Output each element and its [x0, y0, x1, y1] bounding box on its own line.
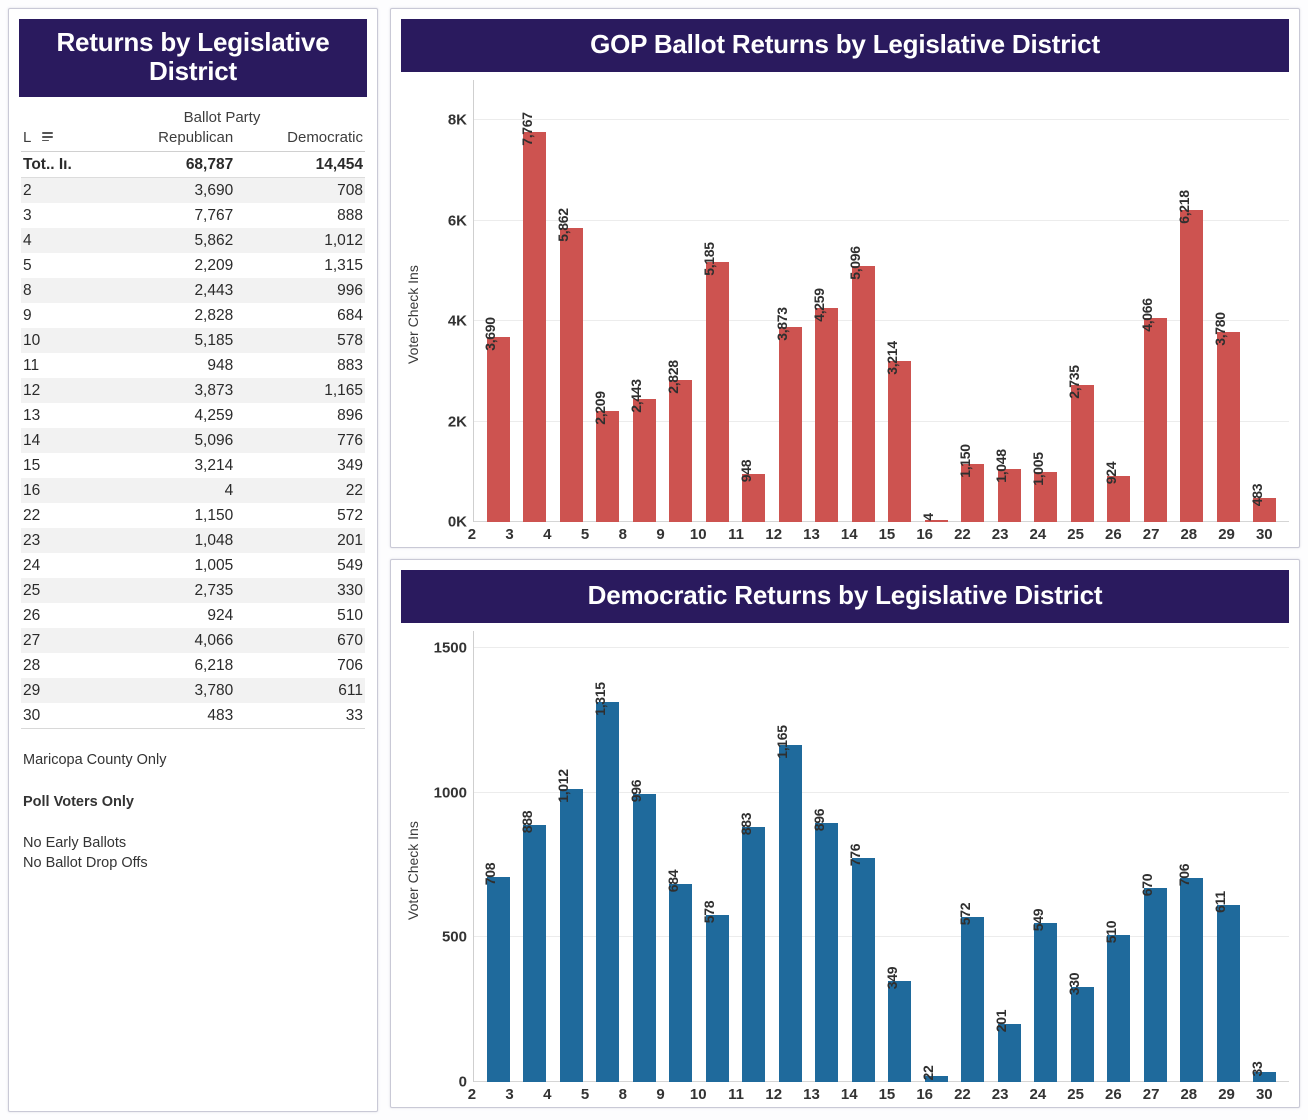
bar-slot[interactable]: 2,828: [663, 80, 700, 522]
y-tick-label: 0: [459, 1074, 467, 1091]
bar[interactable]: 1,150: [961, 464, 984, 522]
bar-value-label: 4,259: [811, 288, 827, 322]
x-tick-label: 14: [830, 526, 868, 543]
dem-y-axis-title: Voter Check Ins: [401, 631, 427, 1082]
x-tick-label: 30: [1245, 526, 1283, 543]
note-county: Maricopa County Only: [23, 751, 363, 771]
bar-slot[interactable]: 6,218: [1174, 80, 1211, 522]
bar-value-label: 3,214: [884, 341, 900, 375]
x-tick-label: 12: [755, 1086, 793, 1103]
cell-district: 15: [21, 453, 107, 478]
bar-value-label: 1,165: [774, 725, 790, 759]
x-tick-label: 29: [1208, 1086, 1246, 1103]
cell-democratic: 33: [235, 703, 365, 729]
table-row[interactable]: 82,443996: [21, 278, 365, 303]
y-tick-label: 500: [442, 929, 467, 946]
x-tick-label: 25: [1057, 526, 1095, 543]
table-body: Tot.. Iı. 68,787 14,454 23,69070837,7678…: [21, 152, 365, 729]
bar-value-label: 33: [1249, 1062, 1265, 1077]
cell-district: 14: [21, 428, 107, 453]
bar[interactable]: 948: [742, 474, 765, 522]
bar[interactable]: 1,005: [1034, 472, 1057, 522]
bar-value-label: 3,780: [1212, 312, 1228, 346]
bar-value-label: 2,209: [592, 391, 608, 425]
bar-slot[interactable]: 611: [1210, 631, 1247, 1082]
cell-republican: 924: [107, 603, 235, 628]
table-row[interactable]: 274,066670: [21, 628, 365, 653]
bar-slot[interactable]: 708: [480, 631, 517, 1082]
bar-slot[interactable]: 883: [736, 631, 773, 1082]
bar-value-label: 611: [1212, 892, 1228, 914]
bar-value-label: 1,315: [592, 682, 608, 716]
y-tick-label: 0K: [448, 514, 467, 531]
cell-district: 24: [21, 553, 107, 578]
x-tick-label: 26: [1094, 1086, 1132, 1103]
bar[interactable]: 330: [1071, 987, 1094, 1082]
bar[interactable]: 888: [523, 825, 546, 1082]
bar-slot[interactable]: 201: [991, 631, 1028, 1082]
table-row[interactable]: 231,048201: [21, 528, 365, 553]
y-tick-label: 1000: [434, 784, 467, 801]
note-poll-voters: Poll Voters Only: [23, 793, 363, 813]
bar[interactable]: 1,012: [560, 789, 583, 1082]
table-row[interactable]: 286,218706: [21, 653, 365, 678]
total-label: Tot.. Iı.: [21, 152, 107, 178]
bar-value-label: 1,048: [993, 450, 1009, 484]
x-tick-label: 10: [679, 1086, 717, 1103]
bar-value-label: 996: [628, 780, 644, 802]
cell-district: 12: [21, 378, 107, 403]
bar-value-label: 883: [738, 813, 754, 835]
bar[interactable]: 572: [961, 917, 984, 1082]
bar-value-label: 924: [1103, 461, 1119, 483]
cell-republican: 2,828: [107, 303, 235, 328]
bar[interactable]: 549: [1034, 923, 1057, 1082]
cell-republican: 948: [107, 353, 235, 378]
cell-democratic: 1,012: [235, 228, 365, 253]
x-tick-label: 12: [755, 526, 793, 543]
bar-slot[interactable]: 5,862: [553, 80, 590, 522]
table-row[interactable]: 252,735330: [21, 578, 365, 603]
bar-slot[interactable]: 5,185: [699, 80, 736, 522]
bar-slot[interactable]: 3,780: [1210, 80, 1247, 522]
bar-slot[interactable]: 578: [699, 631, 736, 1082]
cell-democratic: 330: [235, 578, 365, 603]
cell-district: 28: [21, 653, 107, 678]
bar[interactable]: 4,066: [1144, 318, 1167, 522]
bar-value-label: 201: [993, 1010, 1009, 1032]
table-row-total[interactable]: Tot.. Iı. 68,787 14,454: [21, 152, 365, 178]
cell-district: 29: [21, 678, 107, 703]
dem-y-axis-ticks: 050010001500: [427, 631, 473, 1082]
x-tick-label: 23: [981, 526, 1019, 543]
cell-democratic: 776: [235, 428, 365, 453]
cell-democratic: 572: [235, 503, 365, 528]
cell-district: 8: [21, 278, 107, 303]
dem-x-axis-row: 23458910111213141516222324252627282930: [401, 1082, 1289, 1103]
column-header-district-label: L: [23, 129, 31, 146]
total-republican: 68,787: [107, 152, 235, 178]
gop-y-axis-title: Voter Check Ins: [401, 80, 427, 522]
bar-slot[interactable]: 4,066: [1137, 80, 1174, 522]
bar-value-label: 572: [957, 902, 973, 924]
bar-slot[interactable]: 7,767: [517, 80, 554, 522]
cell-district: 13: [21, 403, 107, 428]
bar-slot[interactable]: 4,259: [809, 80, 846, 522]
x-tick-label: 26: [1094, 526, 1132, 543]
table-row[interactable]: 3048333: [21, 703, 365, 729]
bar[interactable]: 483: [1253, 498, 1276, 522]
bar[interactable]: 3,690: [487, 337, 510, 522]
cell-district: 9: [21, 303, 107, 328]
table-row[interactable]: 145,096776: [21, 428, 365, 453]
column-header-democratic[interactable]: Democratic: [235, 128, 365, 152]
x-tick-label: 3: [491, 1086, 529, 1103]
bar[interactable]: 5,096: [852, 266, 875, 522]
bar[interactable]: 2,735: [1071, 385, 1094, 522]
bar-slot[interactable]: 670: [1137, 631, 1174, 1082]
dem-plot: 7088881,0121,3159966845788831,1658967763…: [473, 631, 1289, 1082]
x-tick-label: 5: [566, 1086, 604, 1103]
bar[interactable]: 2,828: [669, 380, 692, 522]
gop-chart-title: GOP Ballot Returns by Legislative Distri…: [401, 19, 1289, 72]
x-tick-label: 4: [528, 526, 566, 543]
x-tick-label: 22: [944, 526, 982, 543]
cell-district: 22: [21, 503, 107, 528]
bar[interactable]: 896: [815, 823, 838, 1082]
dem-plot-area: Voter Check Ins 050010001500 7088881,012…: [401, 623, 1289, 1082]
gop-plot-area: Voter Check Ins 0K2K4K6K8K 3,6907,7675,8…: [401, 72, 1289, 522]
cell-district: 16: [21, 478, 107, 503]
bar-slot[interactable]: 888: [517, 631, 554, 1082]
table-row[interactable]: 16422: [21, 478, 365, 503]
bar-value-label: 1,005: [1030, 452, 1046, 486]
bar[interactable]: 2,209: [596, 411, 619, 522]
x-tick-label: 11: [717, 526, 755, 543]
bar-slot[interactable]: 1,005: [1028, 80, 1065, 522]
bar-slot[interactable]: 948: [736, 80, 773, 522]
returns-table-panel: Returns by Legislative District Ballot P…: [8, 8, 378, 1112]
bar-slot[interactable]: 996: [626, 631, 663, 1082]
x-tick-label: 10: [679, 526, 717, 543]
bar-value-label: 483: [1249, 484, 1265, 506]
bar[interactable]: 684: [669, 884, 692, 1082]
bar[interactable]: 3,780: [1217, 332, 1240, 522]
bar-slot[interactable]: 3,690: [480, 80, 517, 522]
bar[interactable]: 611: [1217, 905, 1240, 1082]
bar-value-label: 1,150: [957, 444, 973, 478]
bar-value-label: 510: [1103, 920, 1119, 942]
table-row[interactable]: 26924510: [21, 603, 365, 628]
bar[interactable]: 670: [1144, 888, 1167, 1082]
bar-value-label: 4,066: [1139, 298, 1155, 332]
table-row[interactable]: 241,005549: [21, 553, 365, 578]
bar[interactable]: 6,218: [1180, 210, 1203, 522]
cell-district: 4: [21, 228, 107, 253]
bar-value-label: 6,218: [1176, 190, 1192, 224]
bar[interactable]: 4: [925, 520, 948, 522]
cell-democratic: 706: [235, 653, 365, 678]
bar[interactable]: 706: [1180, 878, 1203, 1082]
y-tick-label: 4K: [448, 313, 467, 330]
bar[interactable]: 708: [487, 877, 510, 1082]
bar-value-label: 2,735: [1066, 365, 1082, 399]
cell-district: 23: [21, 528, 107, 553]
cell-democratic: 549: [235, 553, 365, 578]
x-tick-label: 27: [1132, 526, 1170, 543]
dem-chart-title: Democratic Returns by Legislative Distri…: [401, 570, 1289, 623]
x-tick-label: 25: [1057, 1086, 1095, 1103]
bar-slot[interactable]: 1,315: [590, 631, 627, 1082]
cell-democratic: 349: [235, 453, 365, 478]
cell-district: 26: [21, 603, 107, 628]
bar[interactable]: 883: [742, 827, 765, 1082]
bar[interactable]: 4,259: [815, 308, 838, 522]
bar-slot[interactable]: 684: [663, 631, 700, 1082]
table-notes: Maricopa County Only Poll Voters Only No…: [17, 751, 369, 877]
table-row[interactable]: 37,767888: [21, 203, 365, 228]
table-row[interactable]: 123,8731,165: [21, 378, 365, 403]
gop-plot: 3,6907,7675,8622,2092,4432,8285,1859483,…: [473, 80, 1289, 522]
bar-slot[interactable]: 572: [955, 631, 992, 1082]
cell-republican: 483: [107, 703, 235, 729]
bar[interactable]: 33: [1253, 1072, 1276, 1082]
y-tick-label: 8K: [448, 112, 467, 129]
cell-republican: 2,735: [107, 578, 235, 603]
bar-slot[interactable]: 1,165: [772, 631, 809, 1082]
bar-slot[interactable]: 2,209: [590, 80, 627, 522]
x-tick-label: 15: [868, 526, 906, 543]
bar-value-label: 948: [738, 460, 754, 482]
cell-democratic: 510: [235, 603, 365, 628]
cell-republican: 1,048: [107, 528, 235, 553]
x-tick-label: 13: [793, 1086, 831, 1103]
bar-value-label: 776: [847, 843, 863, 865]
table-title: Returns by Legislative District: [19, 19, 367, 97]
cell-democratic: 996: [235, 278, 365, 303]
cell-republican: 7,767: [107, 203, 235, 228]
bar[interactable]: 1,165: [779, 745, 802, 1082]
dashboard-root: Returns by Legislative District Ballot P…: [0, 0, 1308, 1120]
x-tick-label: 15: [868, 1086, 906, 1103]
table-row[interactable]: 45,8621,012: [21, 228, 365, 253]
column-header-district[interactable]: L: [21, 128, 107, 152]
bar-slot[interactable]: 330: [1064, 631, 1101, 1082]
bar[interactable]: 5,185: [706, 262, 729, 522]
bar-value-label: 708: [482, 863, 498, 885]
y-tick-label: 6K: [448, 212, 467, 229]
sort-icon[interactable]: [42, 130, 53, 143]
x-tick-label: 8: [604, 526, 642, 543]
x-tick-label: 28: [1170, 526, 1208, 543]
bar-slot[interactable]: 349: [882, 631, 919, 1082]
cell-democratic: 708: [235, 178, 365, 204]
x-tick-label: 16: [906, 526, 944, 543]
bar[interactable]: 7,767: [523, 132, 546, 522]
cell-republican: 2,443: [107, 278, 235, 303]
cell-republican: 4: [107, 478, 235, 503]
x-tick-label: 8: [604, 1086, 642, 1103]
bar-value-label: 896: [811, 809, 827, 831]
dem-x-axis: 23458910111213141516222324252627282930: [447, 1082, 1289, 1103]
bar[interactable]: 2,443: [633, 399, 656, 522]
bar[interactable]: 510: [1107, 935, 1130, 1082]
x-tick-label: 14: [830, 1086, 868, 1103]
cell-democratic: 201: [235, 528, 365, 553]
bar-slot[interactable]: 776: [845, 631, 882, 1082]
column-header-republican[interactable]: Republican: [107, 128, 235, 152]
bar[interactable]: 1,315: [596, 702, 619, 1082]
bar-slot[interactable]: 3,873: [772, 80, 809, 522]
bar-value-label: 5,096: [847, 246, 863, 280]
bar-value-label: 888: [519, 811, 535, 833]
cell-district: 27: [21, 628, 107, 653]
bar-slot[interactable]: 3,214: [882, 80, 919, 522]
charts-column: GOP Ballot Returns by Legislative Distri…: [390, 8, 1300, 1112]
x-tick-label: 29: [1208, 526, 1246, 543]
table-row[interactable]: 92,828684: [21, 303, 365, 328]
cell-district: 10: [21, 328, 107, 353]
table-row[interactable]: 134,259896: [21, 403, 365, 428]
cell-democratic: 578: [235, 328, 365, 353]
x-tick-label: 23: [981, 1086, 1019, 1103]
bar-value-label: 684: [665, 870, 681, 892]
note-no-early-ballots: No Early Ballots: [23, 834, 363, 854]
bar-value-label: 5,862: [555, 208, 571, 242]
bar-slot[interactable]: 1,012: [553, 631, 590, 1082]
x-tick-label: 24: [1019, 526, 1057, 543]
cell-republican: 3,873: [107, 378, 235, 403]
table-row[interactable]: 221,150572: [21, 503, 365, 528]
bar[interactable]: 5,862: [560, 228, 583, 522]
gop-x-axis-row: 23458910111213141516222324252627282930: [401, 522, 1289, 543]
x-tick-label: 4: [528, 1086, 566, 1103]
bar-value-label: 1,012: [555, 770, 571, 804]
bar-slot[interactable]: 1,048: [991, 80, 1028, 522]
table-wrap: Ballot Party L Republican Democratic: [17, 97, 369, 729]
bars-container: 7088881,0121,3159966845788831,1658967763…: [474, 631, 1289, 1082]
table-row[interactable]: 105,185578: [21, 328, 365, 353]
x-tick-label: 5: [566, 526, 604, 543]
table-row[interactable]: 153,214349: [21, 453, 365, 478]
bar[interactable]: 996: [633, 794, 656, 1082]
cell-district: 2: [21, 178, 107, 204]
bar-value-label: 3,873: [774, 308, 790, 342]
bar-slot[interactable]: 2,443: [626, 80, 663, 522]
bar[interactable]: 1,048: [998, 469, 1021, 522]
cell-republican: 6,218: [107, 653, 235, 678]
bar[interactable]: 22: [925, 1076, 948, 1082]
table-header-row: L Republican Democratic: [21, 128, 365, 152]
cell-republican: 1,005: [107, 553, 235, 578]
table-row[interactable]: 23,690708: [21, 178, 365, 204]
x-tick-label: 9: [642, 1086, 680, 1103]
table-row[interactable]: 52,2091,315: [21, 253, 365, 278]
bar-slot[interactable]: 924: [1101, 80, 1138, 522]
x-tick-label: 16: [906, 1086, 944, 1103]
bar-value-label: 330: [1066, 972, 1082, 994]
bar-slot[interactable]: 22: [918, 631, 955, 1082]
cell-district: 25: [21, 578, 107, 603]
bar[interactable]: 578: [706, 915, 729, 1082]
bar-value-label: 349: [884, 967, 900, 989]
bar-slot[interactable]: 510: [1101, 631, 1138, 1082]
bar-value-label: 706: [1176, 864, 1192, 886]
gop-x-axis: 23458910111213141516222324252627282930: [447, 522, 1289, 543]
gop-y-axis-ticks: 0K2K4K6K8K: [427, 80, 473, 522]
cell-district: 11: [21, 353, 107, 378]
cell-democratic: 1,165: [235, 378, 365, 403]
x-tick-label: 22: [944, 1086, 982, 1103]
x-tick-label: 3: [491, 526, 529, 543]
bar-value-label: 2,443: [628, 380, 644, 414]
bar-slot[interactable]: 1,150: [955, 80, 992, 522]
bar-value-label: 22: [920, 1065, 936, 1080]
bar-value-label: 2,828: [665, 360, 681, 394]
x-tick-label: 30: [1245, 1086, 1283, 1103]
cell-republican: 3,214: [107, 453, 235, 478]
cell-democratic: 611: [235, 678, 365, 703]
table-head: L Republican Democratic: [21, 128, 365, 152]
bar-slot[interactable]: 5,096: [845, 80, 882, 522]
cell-republican: 1,150: [107, 503, 235, 528]
bar-slot[interactable]: 706: [1174, 631, 1211, 1082]
bar-slot[interactable]: 483: [1247, 80, 1284, 522]
cell-republican: 5,185: [107, 328, 235, 353]
bar[interactable]: 776: [852, 858, 875, 1082]
bar-value-label: 4: [920, 513, 936, 521]
x-tick-label: 24: [1019, 1086, 1057, 1103]
y-tick-label: 2K: [448, 413, 467, 430]
cell-democratic: 896: [235, 403, 365, 428]
bar-value-label: 7,767: [519, 112, 535, 146]
cell-district: 5: [21, 253, 107, 278]
bar-slot[interactable]: 896: [809, 631, 846, 1082]
x-tick-label: 27: [1132, 1086, 1170, 1103]
bar-slot[interactable]: 549: [1028, 631, 1065, 1082]
bars-container: 3,6907,7675,8622,2092,4432,8285,1859483,…: [474, 80, 1289, 522]
dem-chart-panel: Democratic Returns by Legislative Distri…: [390, 559, 1300, 1108]
cell-republican: 5,096: [107, 428, 235, 453]
note-no-drop-offs: No Ballot Drop Offs: [23, 854, 363, 874]
cell-democratic: 684: [235, 303, 365, 328]
bar-value-label: 5,185: [701, 242, 717, 276]
ballot-party-group-header: Ballot Party: [21, 97, 365, 128]
x-tick-label: 13: [793, 526, 831, 543]
x-tick-label: 11: [717, 1086, 755, 1103]
bar-slot[interactable]: 2,735: [1064, 80, 1101, 522]
bar[interactable]: 3,873: [779, 327, 802, 522]
bar[interactable]: 349: [888, 981, 911, 1082]
bar[interactable]: 201: [998, 1024, 1021, 1082]
cell-district: 30: [21, 703, 107, 729]
cell-democratic: 670: [235, 628, 365, 653]
bar[interactable]: 3,214: [888, 361, 911, 522]
cell-republican: 3,690: [107, 178, 235, 204]
bar-value-label: 670: [1139, 874, 1155, 896]
cell-republican: 4,259: [107, 403, 235, 428]
cell-democratic: 1,315: [235, 253, 365, 278]
cell-republican: 2,209: [107, 253, 235, 278]
cell-democratic: 22: [235, 478, 365, 503]
bar[interactable]: 924: [1107, 476, 1130, 522]
table-row[interactable]: 293,780611: [21, 678, 365, 703]
returns-table: L Republican Democratic Tot.. Iı. 68,787: [21, 128, 365, 729]
cell-republican: 5,862: [107, 228, 235, 253]
bar-slot[interactable]: 33: [1247, 631, 1284, 1082]
bar-slot[interactable]: 4: [918, 80, 955, 522]
table-row[interactable]: 11948883: [21, 353, 365, 378]
